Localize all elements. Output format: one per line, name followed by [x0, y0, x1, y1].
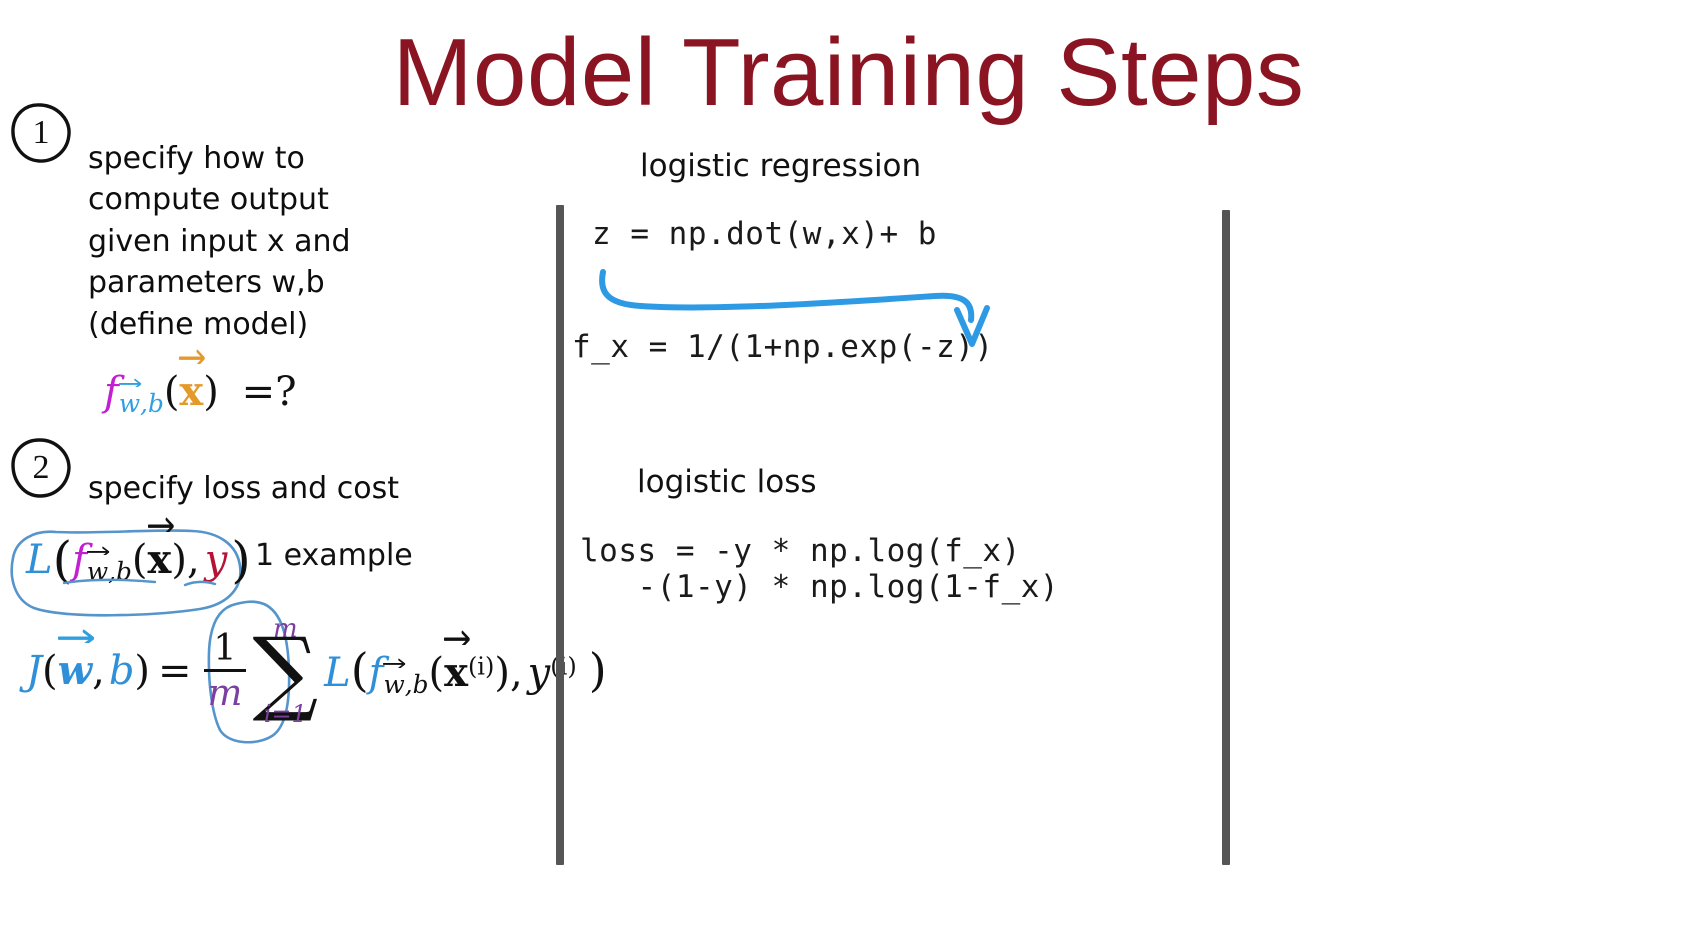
circled-number-1-icon: 1: [10, 102, 72, 164]
symbol-y: y: [205, 537, 228, 583]
symbol-lparen: (: [42, 648, 58, 694]
page-title: Model Training Steps: [0, 18, 1697, 128]
superscript-i: (i): [468, 652, 494, 680]
symbol-w: w: [58, 647, 92, 694]
symbol-rparen: ): [589, 643, 607, 697]
symbol-equals: =: [158, 648, 192, 694]
symbol-w: w: [119, 389, 140, 418]
vector-x: x: [444, 649, 468, 696]
symbol-question: ?: [275, 369, 296, 415]
vector-w: w: [58, 647, 92, 694]
symbol-w: w: [383, 670, 404, 699]
symbol-f: f: [369, 650, 384, 696]
symbol-comma: ,: [140, 389, 148, 418]
symbol-x: x: [179, 368, 203, 415]
symbol-comma: ,: [108, 557, 116, 586]
loss-caption: 1 example: [255, 538, 413, 573]
logistic-regression-heading: logistic regression: [640, 148, 921, 184]
symbol-rparen: ): [134, 648, 150, 694]
vector-x: x: [148, 536, 172, 583]
symbol-comma: ,: [510, 650, 523, 696]
vector-w: w: [119, 389, 140, 418]
symbol-rparen: ): [171, 537, 187, 583]
fraction-denominator: m: [204, 675, 247, 712]
circled-number-2-icon: 2: [10, 437, 72, 499]
vector-w: w: [383, 670, 404, 699]
column-divider-right: [1222, 210, 1230, 865]
column-divider-left: [556, 205, 564, 865]
code-line-fx: f_x = 1/(1+np.exp(-z)): [572, 329, 994, 365]
symbol-comma: ,: [405, 670, 413, 699]
symbol-lparen: (: [53, 531, 73, 589]
symbol-L: L: [26, 537, 53, 583]
code-block-loss: loss = -y * np.log(f_x) -(1-y) * np.log(…: [580, 533, 1059, 605]
symbol-lparen: (: [164, 369, 180, 415]
symbol-b: b: [109, 648, 135, 694]
symbol-b: b: [148, 389, 164, 418]
symbol-b: b: [413, 670, 429, 699]
symbol-J: J: [26, 648, 42, 694]
summation-operator: m ∑ i=1: [252, 616, 318, 726]
symbol-b: b: [116, 557, 132, 586]
code-line-z: z = np.dot(w,x)+ b: [592, 216, 937, 252]
step-1-description: specify how to compute output given inpu…: [88, 138, 428, 345]
symbol-equals: =: [242, 369, 276, 415]
fraction-one-over-m: 1 m: [204, 630, 247, 713]
symbol-x: x: [148, 536, 172, 583]
cost-formula: J(w,b) = 1 m m ∑ i=1 L(fw,b(x(i)),y(i)): [26, 616, 607, 726]
logistic-loss-heading: logistic loss: [637, 464, 817, 500]
symbol-L: L: [324, 650, 351, 696]
vector-x: x: [179, 368, 203, 415]
symbol-rparen: ): [203, 369, 219, 415]
symbol-lparen: (: [132, 537, 148, 583]
symbol-f: f: [72, 537, 87, 583]
code-line-loss-2: -(1-y) * np.log(1-f_x): [580, 569, 1059, 605]
loss-formula: L(fw,b(x),y): [26, 531, 251, 589]
symbol-f: f: [104, 369, 119, 415]
model-formula: fw,b(x) =?: [104, 368, 297, 418]
sigma-icon: ∑: [252, 636, 318, 708]
symbol-x: x: [444, 649, 468, 696]
symbol-rparen: ): [231, 531, 251, 589]
step-1-number: 1: [33, 114, 50, 152]
symbol-comma: ,: [92, 648, 105, 694]
symbol-lparen: (: [428, 650, 444, 696]
symbol-y: y: [528, 650, 551, 696]
symbol-w: w: [87, 557, 108, 586]
symbol-lparen: (: [351, 643, 369, 697]
summation-lower-limit: i=1: [264, 702, 307, 726]
slide-canvas: Model Training Steps 1 specify how to co…: [0, 0, 1697, 948]
symbol-rparen: ): [494, 650, 510, 696]
fraction-numerator: 1: [209, 630, 240, 667]
step-2-description: specify loss and cost: [88, 468, 488, 509]
code-line-loss-1: loss = -y * np.log(f_x): [580, 533, 1021, 569]
step-2-number: 2: [33, 449, 50, 487]
symbol-comma: ,: [187, 537, 200, 583]
vector-w: w: [87, 557, 108, 586]
